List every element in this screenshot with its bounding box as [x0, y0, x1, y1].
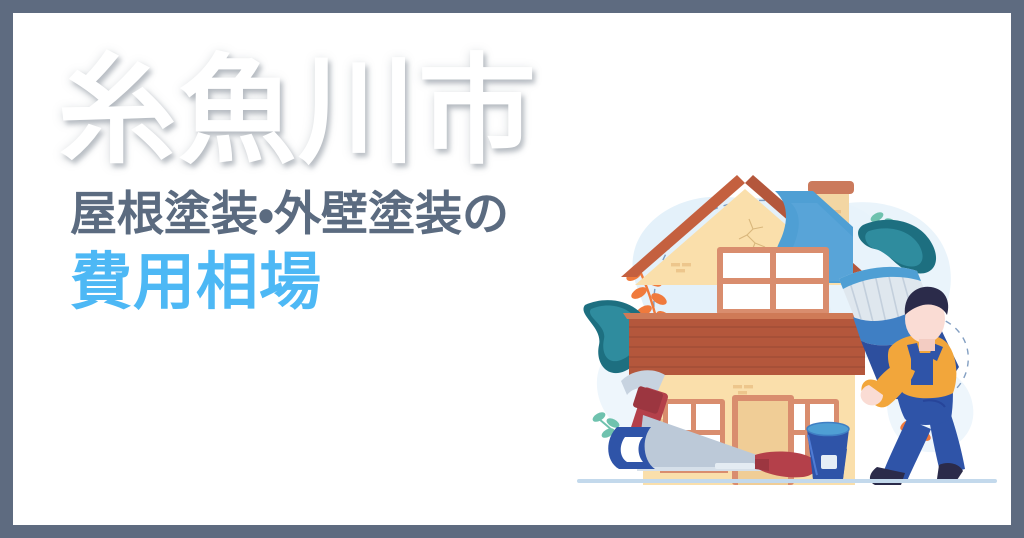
worker-neck [919, 339, 935, 351]
banner-frame: 糸魚川市 屋根塗装・外壁塗装の 費用相場 [0, 0, 1024, 538]
paint-bucket [807, 423, 849, 480]
chimney-cap [808, 181, 854, 194]
banner-canvas: 糸魚川市 屋根塗装・外壁塗装の 費用相場 [13, 13, 1011, 525]
bucket-label [821, 455, 837, 469]
mid-roof-lip [623, 313, 871, 319]
house-painting-illustration [577, 167, 997, 497]
ground-line [577, 479, 997, 483]
page-title: 糸魚川市 [58, 53, 738, 171]
window-mullion-h [723, 278, 823, 284]
